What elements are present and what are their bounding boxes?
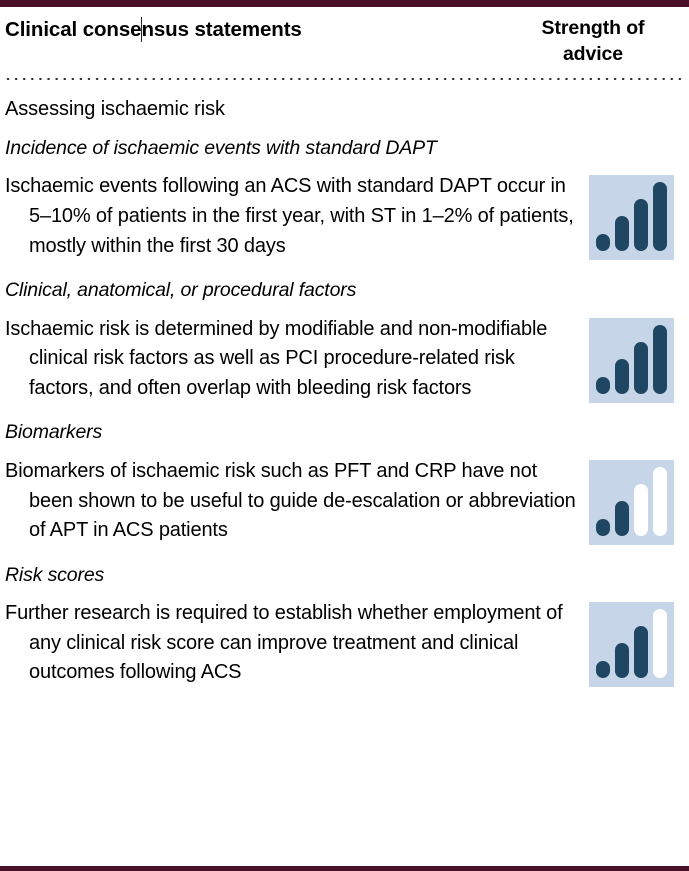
row-statement-text: Further research is required to establis… [5, 599, 589, 688]
column-header-statements: Clinical consensus statements [5, 16, 505, 44]
table-row: Incidence of ischaemic events with stand… [5, 119, 681, 261]
row-strength-cell [589, 172, 681, 260]
row-strength-cell [589, 599, 681, 687]
rating-bar-1 [596, 234, 610, 251]
column-header-strength-line1: Strength of [505, 16, 681, 42]
column-header-strength-line2: advice [505, 42, 681, 68]
clinical-consensus-table: Clinical consensus statements Strength o… [0, 0, 689, 871]
rating-bar-3 [634, 626, 648, 678]
rating-bar-1 [596, 519, 610, 536]
table-body: Assessing ischaemic risk Incidence of is… [0, 81, 689, 688]
table-header-row: Clinical consensus statements Strength o… [0, 7, 689, 68]
row-statement-text: Biomarkers of ischaemic risk such as PFT… [5, 457, 589, 546]
rating-bar-4 [653, 325, 667, 394]
rating-bar-4 [653, 467, 667, 536]
rating-bar-2 [615, 359, 629, 394]
column-header-strength-of-advice: Strength of advice [505, 16, 681, 68]
bar-rating-icon [589, 602, 674, 687]
rating-bar-3 [634, 199, 648, 251]
table-row: Clinical, anatomical, or procedural fact… [5, 261, 681, 403]
table-row: Risk scores Further research is required… [5, 546, 681, 688]
row-strength-cell [589, 315, 681, 403]
rating-bar-2 [615, 643, 629, 678]
rating-bar-2 [615, 501, 629, 536]
bar-rating-icon [589, 460, 674, 545]
row-statement-text: Ischaemic events following an ACS with s… [5, 172, 589, 261]
row-subheading: Clinical, anatomical, or procedural fact… [5, 261, 681, 301]
row-statement-text: Ischaemic risk is determined by modifiab… [5, 315, 589, 404]
text-cursor-icon [141, 17, 142, 42]
bar-rating-icon [589, 175, 674, 260]
rating-bar-4 [653, 182, 667, 251]
rating-bar-3 [634, 342, 648, 394]
rating-bar-3 [634, 484, 648, 536]
bar-rating-icon [589, 318, 674, 403]
rating-bar-2 [615, 216, 629, 251]
row-subheading: Biomarkers [5, 403, 681, 443]
rating-bar-1 [596, 661, 610, 678]
table-row: Biomarkers Biomarkers of ischaemic risk … [5, 403, 681, 545]
row-strength-cell [589, 457, 681, 545]
column-header-statements-label: Clinical consensus statements [5, 18, 302, 41]
rating-bar-1 [596, 377, 610, 394]
section-title: Assessing ischaemic risk [5, 81, 681, 119]
row-subheading: Risk scores [5, 546, 681, 586]
row-subheading: Incidence of ischaemic events with stand… [5, 119, 681, 159]
rating-bar-4 [653, 609, 667, 678]
